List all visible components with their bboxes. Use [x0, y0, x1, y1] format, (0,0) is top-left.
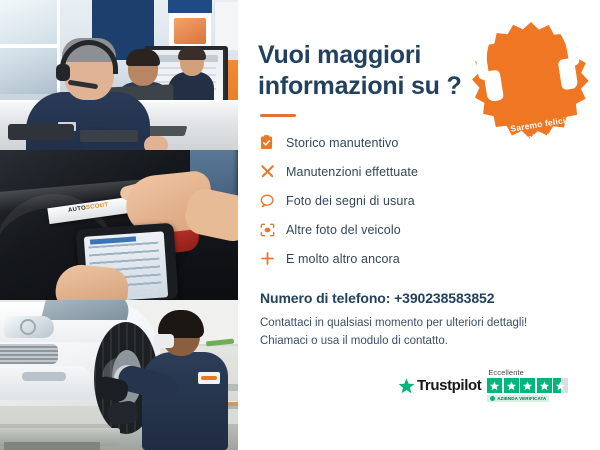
mechanic-figure [140, 314, 232, 450]
star-filled [504, 378, 519, 393]
trustpilot-rating-label: Eccellente [488, 368, 524, 377]
mechanic-torso [142, 352, 228, 450]
poster-header-band [168, 0, 212, 13]
speech-bubble-icon [260, 194, 286, 208]
clipboard-check-icon [260, 135, 286, 150]
trustpilot-logo: Trustpilot [398, 377, 481, 394]
list-item-label: E molto altro ancora [286, 252, 400, 266]
agent-headset-earcup [56, 64, 70, 81]
list-item-label: Foto dei segni di usura [286, 194, 415, 208]
trustpilot-rating: Eccellente [487, 368, 568, 402]
agent-hand [144, 136, 168, 150]
car-grille [0, 344, 58, 364]
verified-check-icon [490, 396, 495, 401]
mechanic-uniform-logo [198, 372, 220, 384]
list-item-label: Storico manutentivo [286, 136, 398, 150]
star-half [553, 378, 568, 393]
scan-frame-icon [260, 223, 286, 237]
list-item: Foto dei segni di usura [260, 187, 580, 214]
trustpilot-stars [487, 378, 568, 393]
call-center-photo [0, 0, 238, 150]
contact-text: Contattaci in qualsiasi momento per ulte… [260, 315, 580, 351]
star-filled [487, 378, 502, 393]
mechanic-face-mask [154, 334, 174, 348]
car-windshield [41, 300, 133, 320]
vehicle-inspection-photo: AUTOSCOUT [0, 150, 238, 300]
verified-company-badge: AZIENDA VERIFICATA [487, 395, 549, 402]
keyboard-tray [8, 124, 74, 140]
callout-badge: Saremo felici di fornirti queste informa… [470, 20, 592, 142]
verified-company-label: AZIENDA VERIFICATA [497, 396, 546, 401]
trustpilot-star-icon [398, 378, 415, 394]
star-filled [520, 378, 535, 393]
headlight-ring [20, 319, 36, 335]
car-lift-post [4, 442, 100, 450]
wrench-tools-icon [260, 164, 286, 179]
mechanic-wheel-photo [0, 300, 238, 450]
desk-tablet [80, 130, 138, 142]
headset-icon [457, 0, 597, 127]
trustpilot-wordmark: Trustpilot [417, 377, 481, 394]
content-panel: Saremo felici di fornirti queste informa… [238, 0, 600, 450]
headline-line-1: Vuoi maggiori [258, 41, 421, 69]
star-filled [537, 378, 552, 393]
car-fog-light [22, 372, 66, 381]
trustpilot-widget[interactable]: Trustpilot Eccellente [398, 368, 568, 402]
contact-line-1: Contattaci in qualsiasi momento per ulte… [260, 317, 527, 329]
list-item-label: Altre foto del veicolo [286, 223, 401, 237]
contact-line-2: Chiamaci o usa il modulo di contatto. [260, 335, 448, 347]
poster-image [174, 18, 206, 44]
promo-card: AUTOSCOUT [0, 0, 600, 450]
colleague-far-hair [178, 46, 206, 60]
title-divider [260, 114, 296, 117]
list-item-label: Manutenzioni effettuate [286, 165, 418, 179]
list-item: Altre foto del veicolo [260, 216, 580, 243]
list-item: E molto altro ancora [260, 245, 580, 272]
colleague-far-background [168, 48, 214, 104]
phone-number[interactable]: Numero di telefono: +390238583852 [260, 290, 580, 306]
photo-column: AUTOSCOUT [0, 0, 238, 450]
page-title: Vuoi maggiori informazioni su ? [258, 40, 468, 101]
headline-line-2: informazioni su ? [258, 72, 462, 100]
wall-poster-second [214, 2, 238, 50]
plus-icon [260, 251, 286, 266]
